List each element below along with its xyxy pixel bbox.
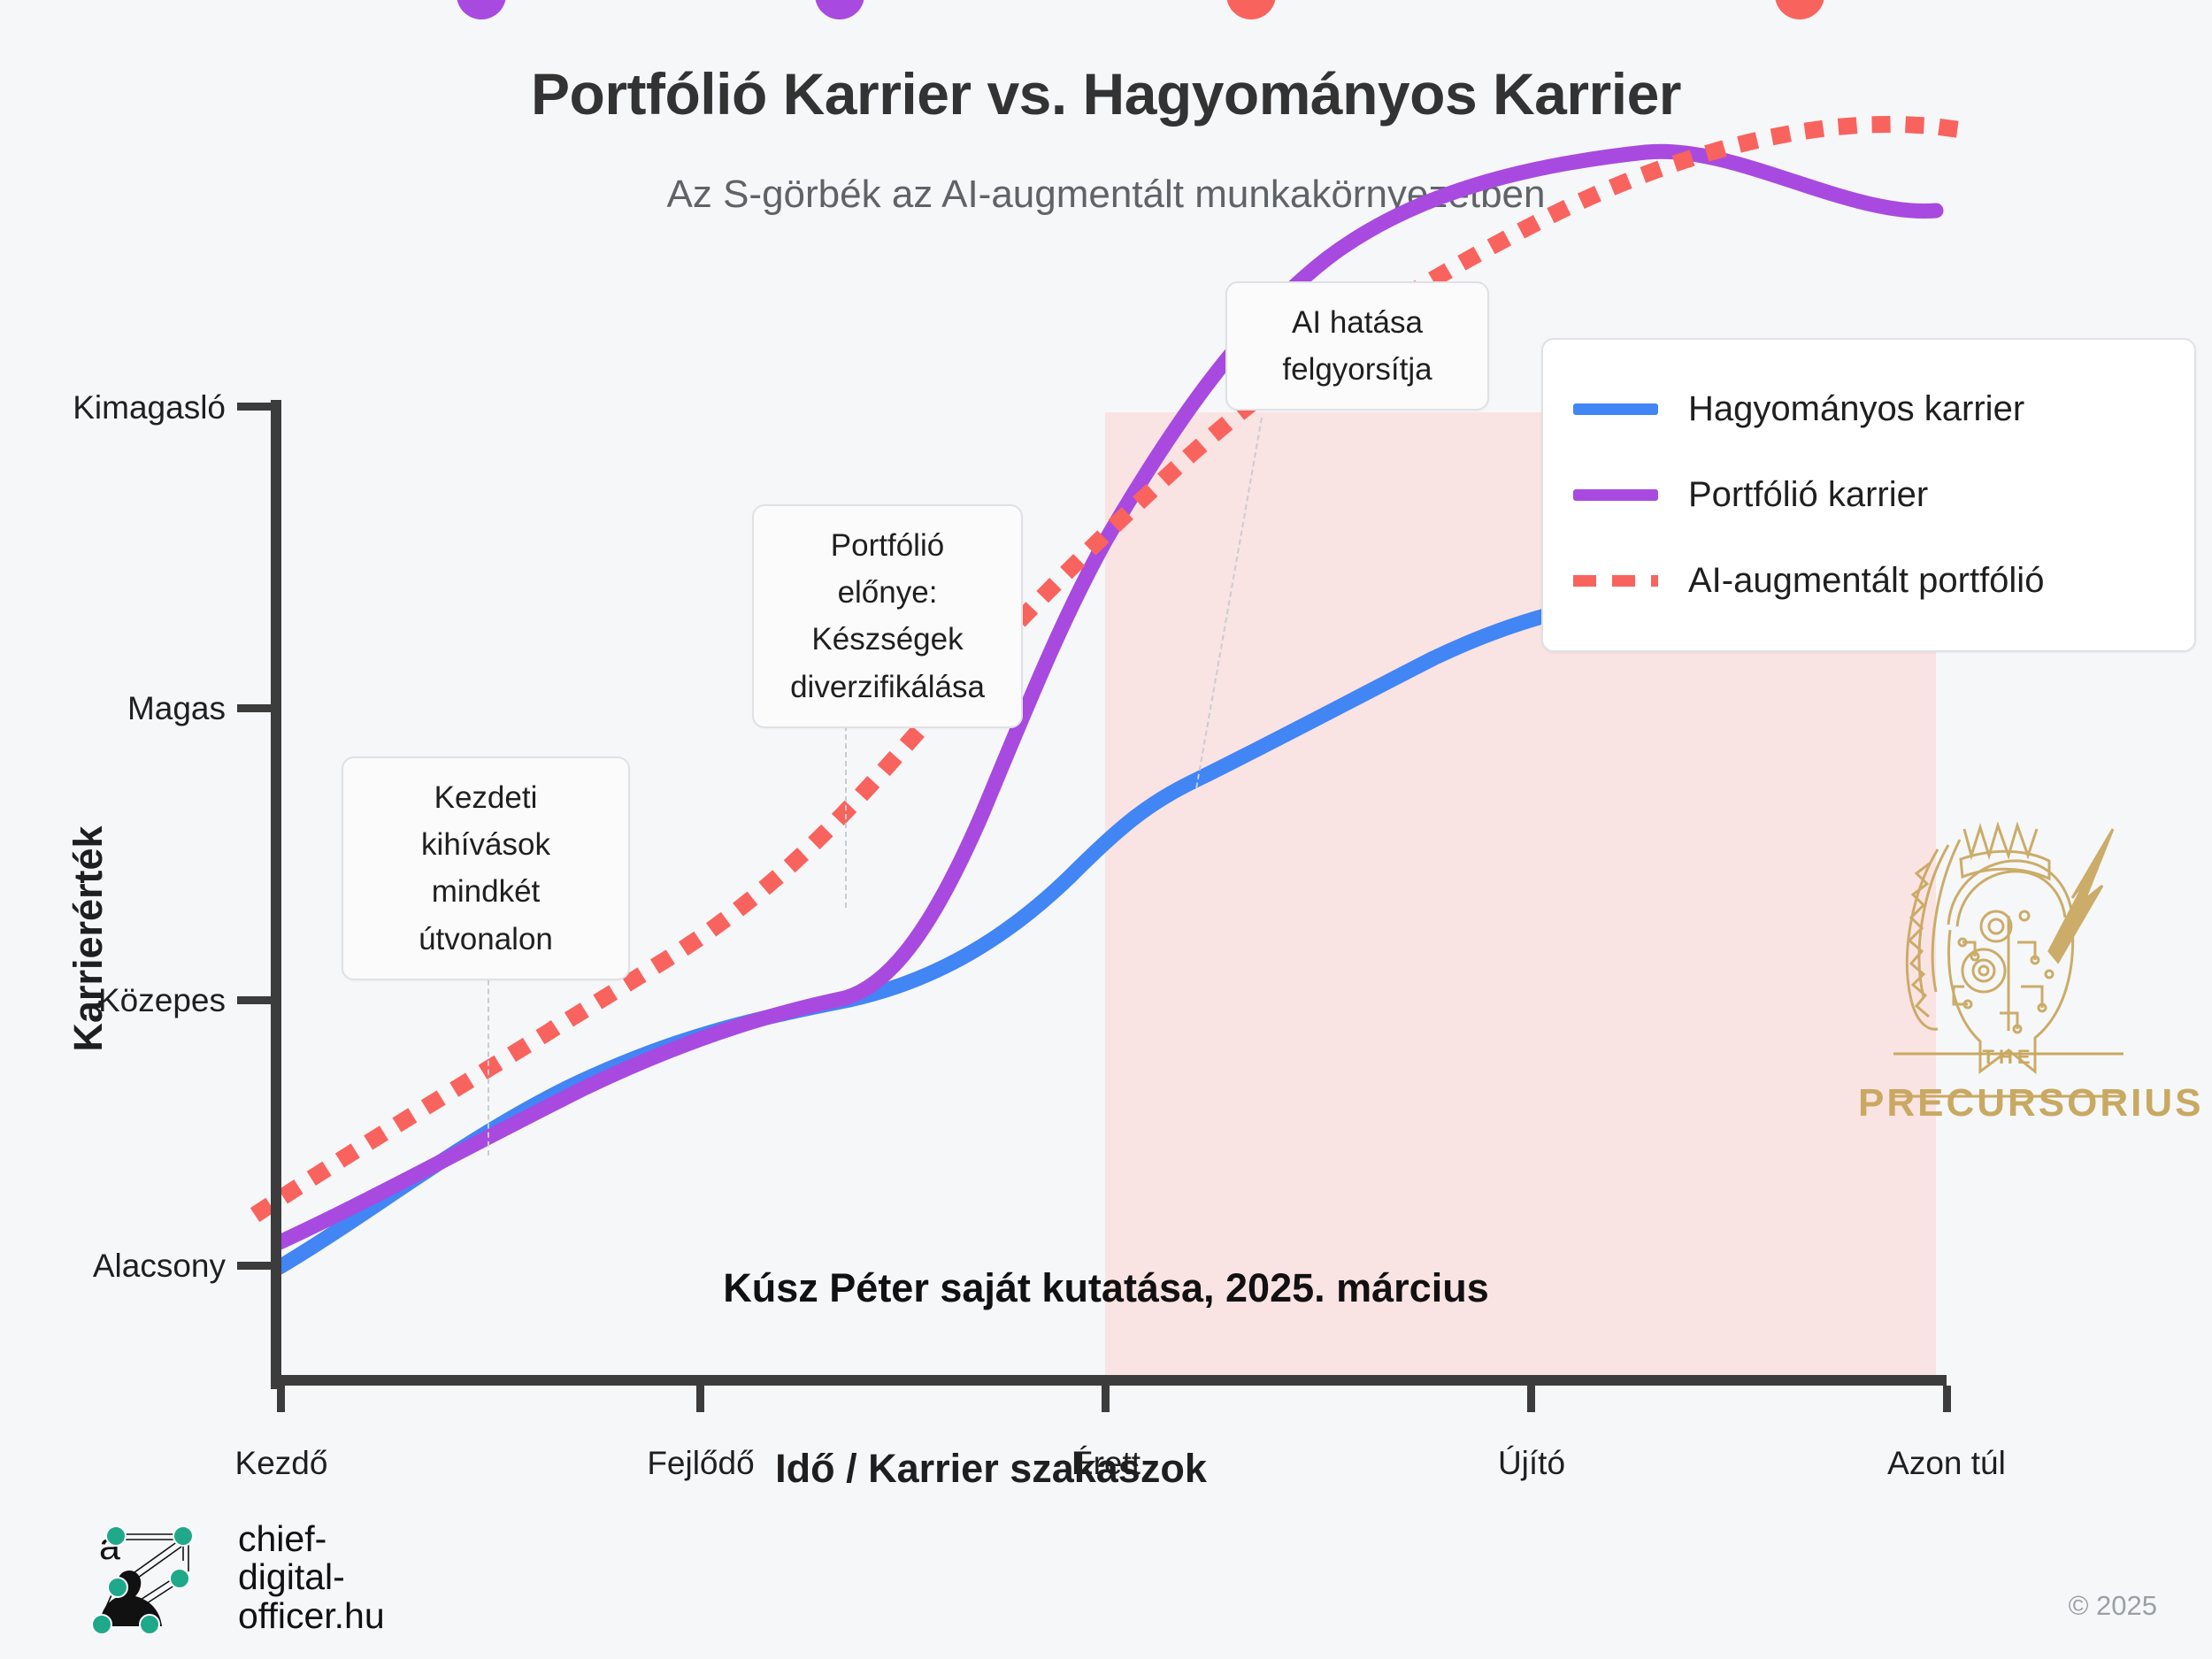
cdo-network-icon: [84, 1520, 226, 1635]
cdo-logo[interactable]: chief- digital- officer.hu: [84, 1520, 385, 1635]
annotation-portfolio-elonye: Portfólió előnye: Készségek diverzifikál…: [752, 504, 1023, 728]
annotation-line: mindkét útvonalon: [366, 868, 605, 962]
y-axis: [271, 400, 281, 1389]
chart-legend: Hagyományos karrier Portfólió karrier AI…: [1541, 338, 2196, 652]
x-tick-erett: [1102, 1386, 1110, 1412]
x-tick-kezdo: [277, 1386, 285, 1412]
x-axis-title: Idő / Karrier szakaszok: [566, 1446, 1416, 1492]
cdo-wordmark-line1: chief-: [238, 1520, 385, 1558]
precursorius-the-label: THE: [1858, 1046, 2159, 1069]
legend-swatch-dotted-red: [1573, 575, 1658, 587]
legend-item-ai-augmented[interactable]: AI-augmentált portfólió: [1573, 538, 2164, 624]
cdo-wordmark-line2: digital-: [238, 1558, 385, 1596]
legend-label: AI-augmentált portfólió: [1688, 561, 2044, 601]
annotation-kezdeti-kihivasok: Kezdeti kihívások mindkét útvonalon: [342, 757, 630, 980]
annotation-line: Kezdeti kihívások: [366, 774, 605, 868]
x-axis: [271, 1375, 1947, 1386]
annotation-line: Portfólió előnye:: [777, 522, 998, 616]
x-tick-ujito: [1527, 1386, 1535, 1412]
annotation-ai-hatasa: AI hatása felgyorsítja: [1225, 281, 1489, 411]
chart-title: Portfólió Karrier vs. Hagyományos Karrie…: [0, 60, 2212, 127]
annotation-line: felgyorsítja: [1250, 346, 1464, 393]
y-axis-title: Karrierérték: [65, 797, 111, 1080]
x-tick-label-kezdo: Kezdő: [122, 1445, 441, 1482]
legend-swatch-solid-purple: [1573, 489, 1658, 501]
y-tick-label-kozepes: Közepes: [0, 982, 226, 1019]
chart-subtitle: Az S-görbék az AI-augmentált munkakörnye…: [0, 173, 2212, 217]
chart-canvas: Portfólió Karrier vs. Hagyományos Karrie…: [0, 0, 2212, 1659]
legend-label: Portfólió karrier: [1688, 475, 1928, 515]
precursorius-wordmark: PRECURSORIUS: [1858, 1081, 2159, 1125]
x-tick-label-ujito: Újító: [1372, 1445, 1691, 1482]
decor-dot-4: [1775, 0, 1824, 19]
decor-dot-3: [1226, 0, 1276, 19]
y-tick-kimagaslo: [237, 403, 276, 411]
legend-swatch-solid-blue: [1573, 403, 1658, 415]
legend-item-hagyomanyos[interactable]: Hagyományos karrier: [1573, 366, 2164, 452]
decor-dot-2: [815, 0, 864, 19]
cdo-wordmark: chief- digital- officer.hu: [238, 1520, 385, 1635]
y-tick-kozepes: [237, 996, 276, 1004]
cdo-wordmark-line3: officer.hu: [238, 1597, 385, 1635]
legend-label: Hagyományos karrier: [1688, 389, 2024, 429]
decor-dot-1: [457, 0, 506, 19]
legend-item-portfolio[interactable]: Portfólió karrier: [1573, 452, 2164, 538]
annotation-line: AI hatása: [1250, 299, 1464, 346]
y-tick-magas: [237, 704, 276, 712]
annotation-line: Készségek: [777, 616, 998, 663]
y-tick-label-magas: Magas: [0, 690, 226, 727]
annotation-line: diverzifikálása: [777, 664, 998, 710]
annotation-leader-2: [845, 699, 847, 908]
x-tick-azontul: [1943, 1386, 1951, 1412]
x-tick-label-azontul: Azon túl: [1787, 1445, 2106, 1482]
source-note: Kúsz Péter saját kutatása, 2025. március: [0, 1265, 2212, 1311]
copyright-label: © 2025: [2069, 1590, 2157, 1622]
y-tick-label-kimagaslo: Kimagasló: [0, 389, 226, 426]
x-tick-fejlodo: [696, 1386, 704, 1412]
